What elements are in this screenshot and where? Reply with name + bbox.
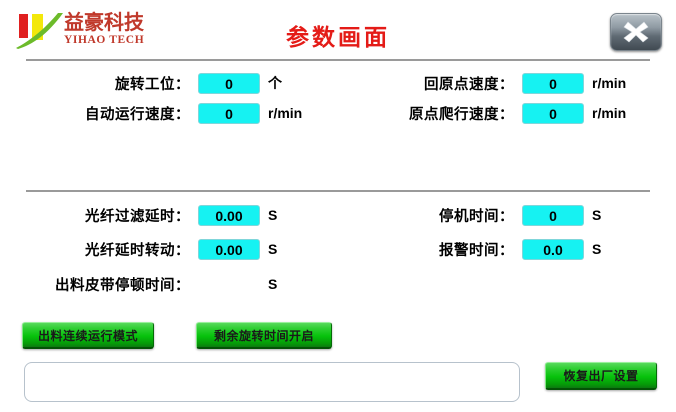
field-label-auto-run-speed: 自动运行速度： — [30, 103, 190, 124]
unit-fiber-filter-delay: S — [268, 207, 277, 223]
page-title: 参数画面 — [0, 18, 676, 52]
field-label-home-creep-speed: 原点爬行速度： — [380, 103, 514, 124]
field-rotation-station: 旋转工位： 0 个 — [30, 71, 282, 95]
continuous-discharge-mode-button[interactable]: 出料连续运行模式 — [22, 322, 154, 349]
field-home-return-speed: 回原点速度： 0 r/min — [380, 71, 626, 95]
input-rotation-station[interactable]: 0 — [198, 73, 260, 94]
field-auto-run-speed: 自动运行速度： 0 r/min — [30, 101, 302, 125]
field-label-stop-time: 停机时间： — [380, 205, 514, 226]
unit-home-creep-speed: r/min — [592, 105, 626, 121]
factory-reset-button[interactable]: 恢复出厂设置 — [545, 362, 657, 390]
unit-alarm-time: S — [592, 241, 601, 257]
close-button[interactable] — [610, 13, 662, 51]
unit-rotation-station: 个 — [268, 73, 282, 93]
field-label-alarm-time: 报警时间： — [380, 239, 514, 260]
field-fiber-filter-delay: 光纤过滤延时： 0.00 S — [30, 203, 277, 227]
unit-home-return-speed: r/min — [592, 75, 626, 91]
field-discharge-belt-pause-time: 出料皮带停顿时间： S — [30, 272, 277, 296]
input-fiber-delay-rotate[interactable]: 0.00 — [198, 239, 260, 260]
unit-discharge-belt-pause-time: S — [268, 276, 277, 292]
continuous-discharge-mode-label: 出料连续运行模式 — [38, 327, 138, 344]
unit-fiber-delay-rotate: S — [268, 241, 277, 257]
remaining-rotation-time-label: 剩余旋转时间开启 — [214, 327, 314, 344]
message-box[interactable] — [24, 362, 520, 402]
field-alarm-time: 报警时间： 0.0 S — [380, 237, 601, 261]
field-label-discharge-belt-pause-time: 出料皮带停顿时间： — [30, 274, 190, 295]
field-label-home-return-speed: 回原点速度： — [380, 73, 514, 94]
close-icon — [622, 19, 650, 43]
remaining-rotation-time-button[interactable]: 剩余旋转时间开启 — [196, 322, 332, 349]
input-home-creep-speed[interactable]: 0 — [522, 103, 584, 124]
field-fiber-delay-rotate: 光纤延时转动： 0.00 S — [30, 237, 277, 261]
divider-top — [26, 59, 650, 61]
field-stop-time: 停机时间： 0 S — [380, 203, 601, 227]
input-fiber-filter-delay[interactable]: 0.00 — [198, 205, 260, 226]
field-home-creep-speed: 原点爬行速度： 0 r/min — [380, 101, 626, 125]
field-label-fiber-delay-rotate: 光纤延时转动： — [30, 239, 190, 260]
input-discharge-belt-pause-time-placeholder — [198, 274, 260, 295]
input-alarm-time[interactable]: 0.0 — [522, 239, 584, 260]
input-home-return-speed[interactable]: 0 — [522, 73, 584, 94]
factory-reset-label: 恢复出厂设置 — [563, 367, 638, 384]
unit-auto-run-speed: r/min — [268, 105, 302, 121]
unit-stop-time: S — [592, 207, 601, 223]
field-label-rotation-station: 旋转工位： — [30, 73, 190, 94]
header-bar: 益豪科技 YIHAO TECH 参数画面 — [0, 0, 676, 60]
field-label-fiber-filter-delay: 光纤过滤延时： — [30, 205, 190, 226]
divider-middle — [26, 190, 650, 192]
input-auto-run-speed[interactable]: 0 — [198, 103, 260, 124]
input-stop-time[interactable]: 0 — [522, 205, 584, 226]
